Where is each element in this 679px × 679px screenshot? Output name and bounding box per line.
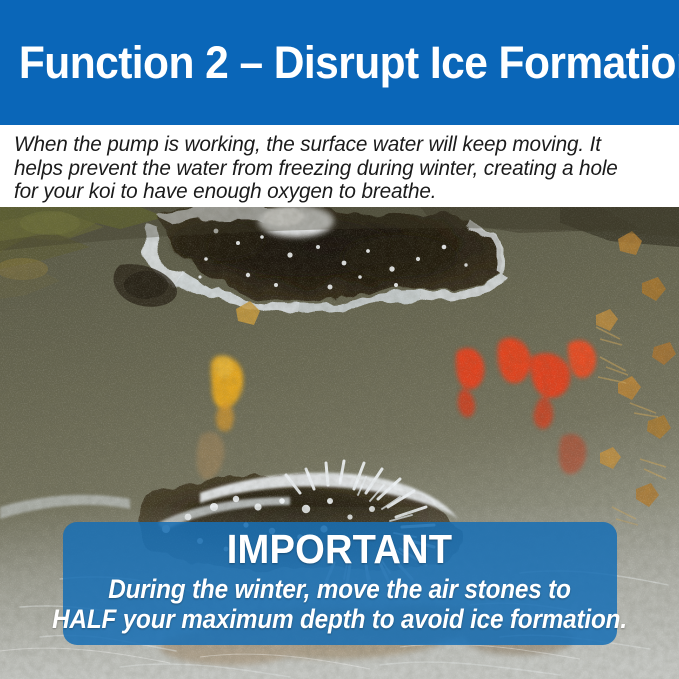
intro-block: When the pump is working, the surface wa… xyxy=(0,125,679,207)
intro-paragraph: When the pump is working, the surface wa… xyxy=(14,133,646,204)
important-callout-box xyxy=(63,522,617,645)
infographic-page: Function 2 – Disrupt Ice Formation When … xyxy=(0,0,679,679)
page-title: Function 2 – Disrupt Ice Formation xyxy=(0,40,679,85)
header-banner: Function 2 – Disrupt Ice Formation xyxy=(0,0,679,125)
